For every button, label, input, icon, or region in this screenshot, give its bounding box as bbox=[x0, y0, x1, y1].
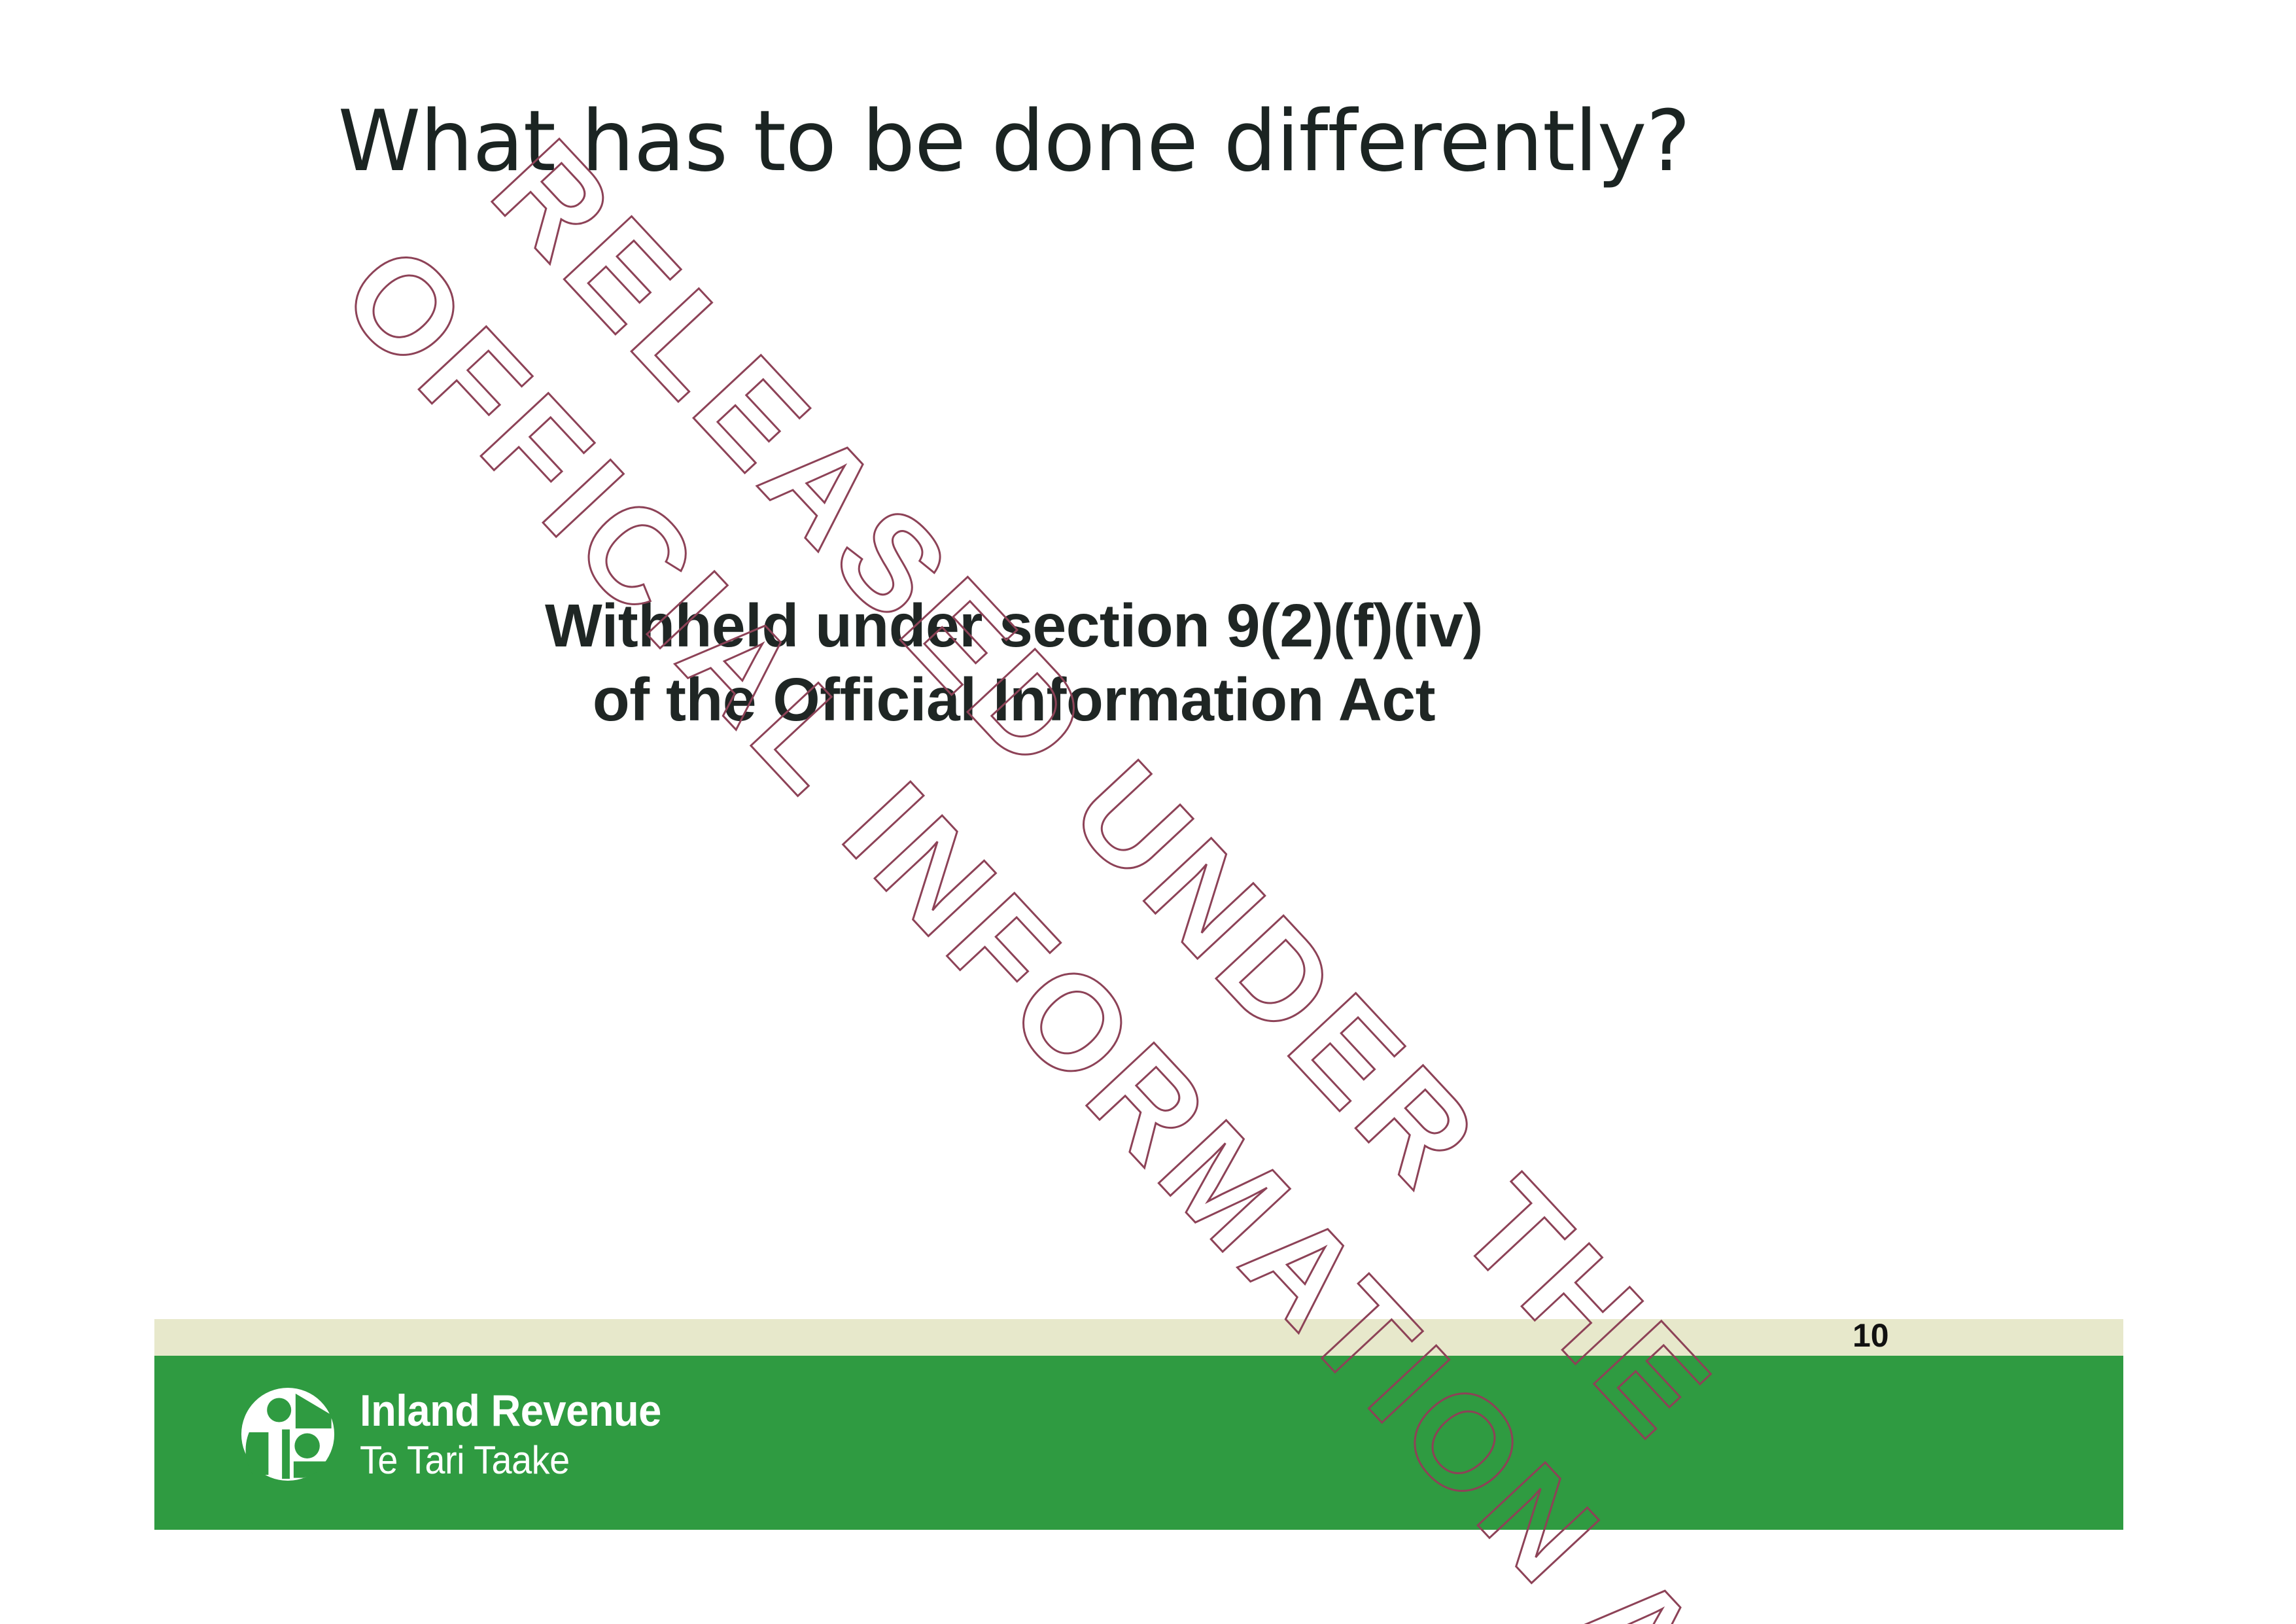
withheld-notice: Withheld under section 9(2)(f)(iv) of th… bbox=[0, 589, 2028, 737]
logo-name-english: Inland Revenue bbox=[360, 1388, 661, 1433]
slide-page: What has to be done differently? Withhel… bbox=[0, 0, 2296, 1624]
withheld-notice-line-2: of the Official Information Act bbox=[0, 663, 2028, 737]
logo-wordmark: Inland Revenue Te Tari Taake bbox=[360, 1388, 684, 1480]
slide-footer: 10 Inland Revenue Te Tari Taa bbox=[154, 1319, 2123, 1530]
withheld-notice-line-1: Withheld under section 9(2)(f)(iv) bbox=[0, 589, 2028, 663]
watermark-line-released-under-the: RELEASED UNDER THE bbox=[462, 111, 1745, 1471]
page-title: What has to be done differently? bbox=[0, 98, 2028, 186]
inland-revenue-logo: Inland Revenue Te Tari Taake bbox=[239, 1386, 684, 1483]
page-number: 10 bbox=[1852, 1316, 1889, 1354]
ir-monogram-icon bbox=[239, 1386, 336, 1483]
logo-name-maori: Te Tari Taake bbox=[360, 1441, 661, 1480]
footer-cream-band bbox=[154, 1319, 2123, 1356]
